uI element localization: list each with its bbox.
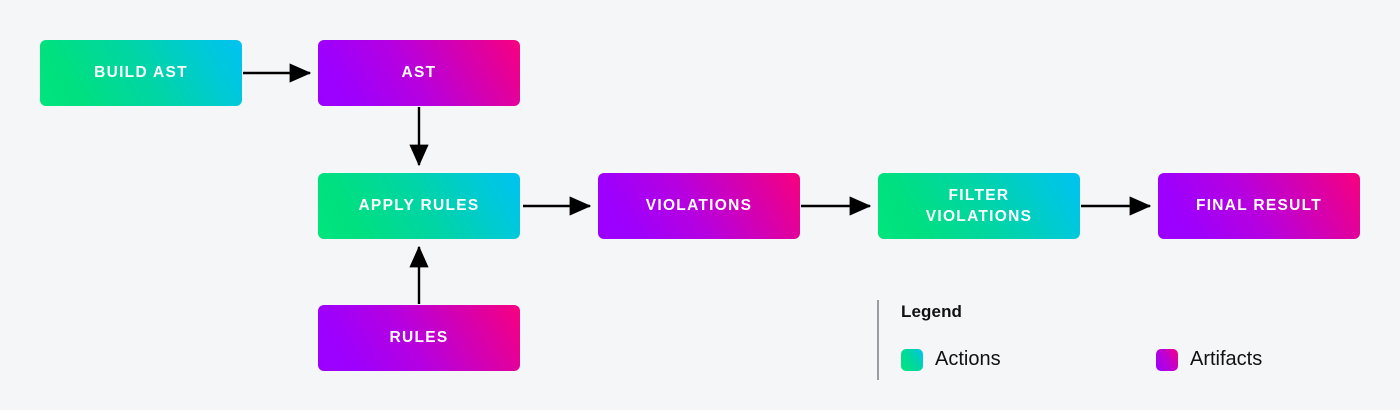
legend-title: Legend (901, 302, 962, 322)
node-violations[interactable]: Violations (598, 173, 800, 239)
legend-item-artifacts: Artifacts (1156, 348, 1262, 371)
node-label: AST (402, 62, 437, 83)
node-rules[interactable]: Rules (318, 305, 520, 371)
node-build-ast[interactable]: Build AST (40, 40, 242, 106)
node-label: Filter Violations (926, 185, 1033, 228)
legend-label-artifacts: Artifacts (1190, 348, 1262, 371)
node-final-result[interactable]: Final Result (1158, 173, 1360, 239)
legend-swatch-artifacts-icon (1156, 349, 1178, 371)
node-label: Apply Rules (358, 195, 479, 216)
legend: Legend Actions Artifacts (869, 298, 1329, 382)
node-label: Final Result (1196, 195, 1322, 216)
node-label: Violations (646, 195, 753, 216)
node-apply-rules[interactable]: Apply Rules (318, 173, 520, 239)
legend-divider (877, 300, 879, 380)
node-label: Rules (389, 327, 448, 348)
legend-swatch-actions-icon (901, 349, 923, 371)
legend-item-actions: Actions (901, 348, 1001, 371)
legend-label-actions: Actions (935, 348, 1001, 371)
diagram-canvas: Build AST AST Apply Rules Violations Fil… (0, 0, 1400, 410)
node-label: Build AST (94, 62, 188, 83)
node-filter-violations[interactable]: Filter Violations (878, 173, 1080, 239)
node-ast[interactable]: AST (318, 40, 520, 106)
